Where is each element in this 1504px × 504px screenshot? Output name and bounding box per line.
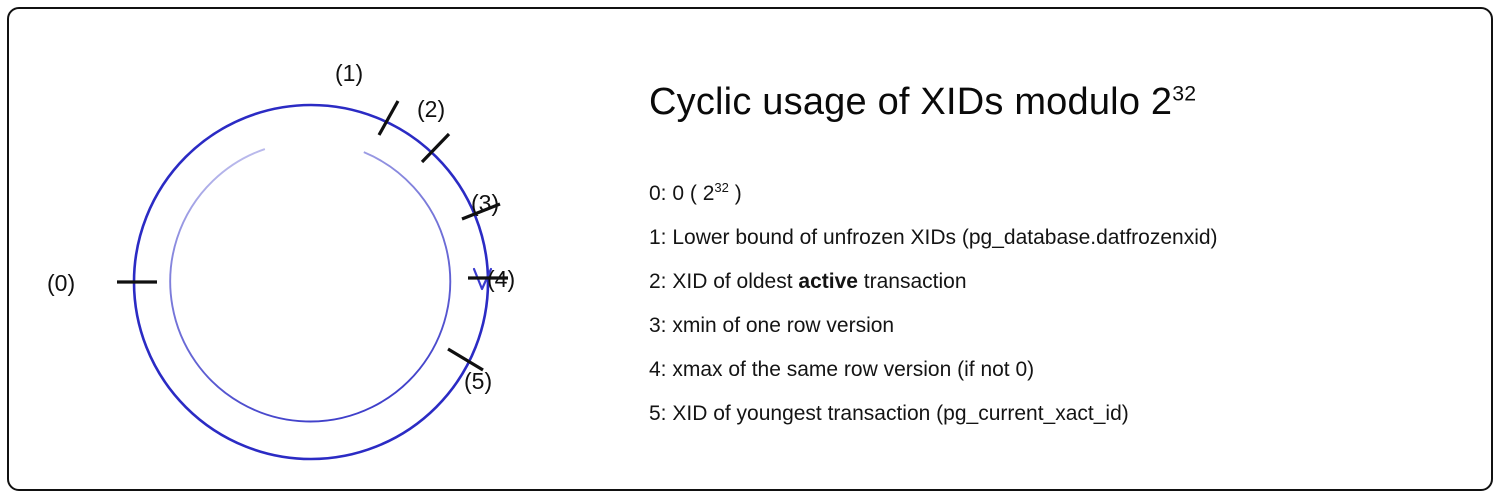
tick-label-0: (0) — [47, 270, 75, 296]
tick-mark-1 — [379, 101, 398, 135]
legend-item-2-pre: 2: XID of oldest — [649, 270, 798, 293]
legend-item-0: 0: 0 ( 232 ) — [649, 183, 1449, 204]
legend-item-0-suffix: ) — [729, 182, 742, 205]
legend-item-4-text: 4: xmax of the same row version (if not … — [649, 358, 1034, 381]
legend-item-0-prefix: 0: 0 ( 2 — [649, 182, 714, 205]
legend-item-5-text: 5: XID of youngest transaction (pg_curre… — [649, 402, 1129, 425]
diagram-frame: (0) (1) (2) (3) (4) (5) C — [7, 7, 1493, 491]
tick-label-5: (5) — [464, 368, 492, 394]
legend-item-2-emphasis: active — [798, 270, 858, 293]
legend-item-4: 4: xmax of the same row version (if not … — [649, 359, 1449, 380]
legend-item-1-text: 1: Lower bound of unfrozen XIDs (pg_data… — [649, 226, 1218, 249]
clockwise-direction-arc — [124, 95, 496, 467]
legend-item-3-text: 3: xmin of one row version — [649, 314, 894, 337]
xid-cycle-circle — [134, 105, 488, 459]
legend-item-5: 5: XID of youngest transaction (pg_curre… — [649, 403, 1449, 424]
page-title: Cyclic usage of XIDs modulo 232 — [649, 81, 1196, 124]
tick-label-3: (3) — [471, 190, 499, 216]
tick-label-1: (1) — [335, 60, 363, 86]
tick-label-4: (4) — [487, 266, 515, 292]
page-title-exponent: 32 — [1172, 81, 1196, 105]
legend-item-0-exponent: 32 — [714, 180, 728, 195]
xid-cycle-diagram: (0) (1) (2) (3) (4) (5) — [39, 19, 639, 499]
legend-item-2-post: transaction — [858, 270, 967, 293]
description-panel: Cyclic usage of XIDs modulo 232 0: 0 ( 2… — [641, 27, 1471, 477]
page-title-text: Cyclic usage of XIDs modulo 2 — [649, 81, 1172, 123]
cycle-svg: (0) (1) (2) (3) (4) (5) — [39, 19, 639, 499]
tick-label-2: (2) — [417, 96, 445, 122]
legend-item-3: 3: xmin of one row version — [649, 315, 1449, 336]
legend-list: 0: 0 ( 232 ) 1: Lower bound of unfrozen … — [649, 183, 1449, 447]
legend-item-2: 2: XID of oldest active transaction — [649, 271, 1449, 292]
legend-item-1: 1: Lower bound of unfrozen XIDs (pg_data… — [649, 227, 1449, 248]
